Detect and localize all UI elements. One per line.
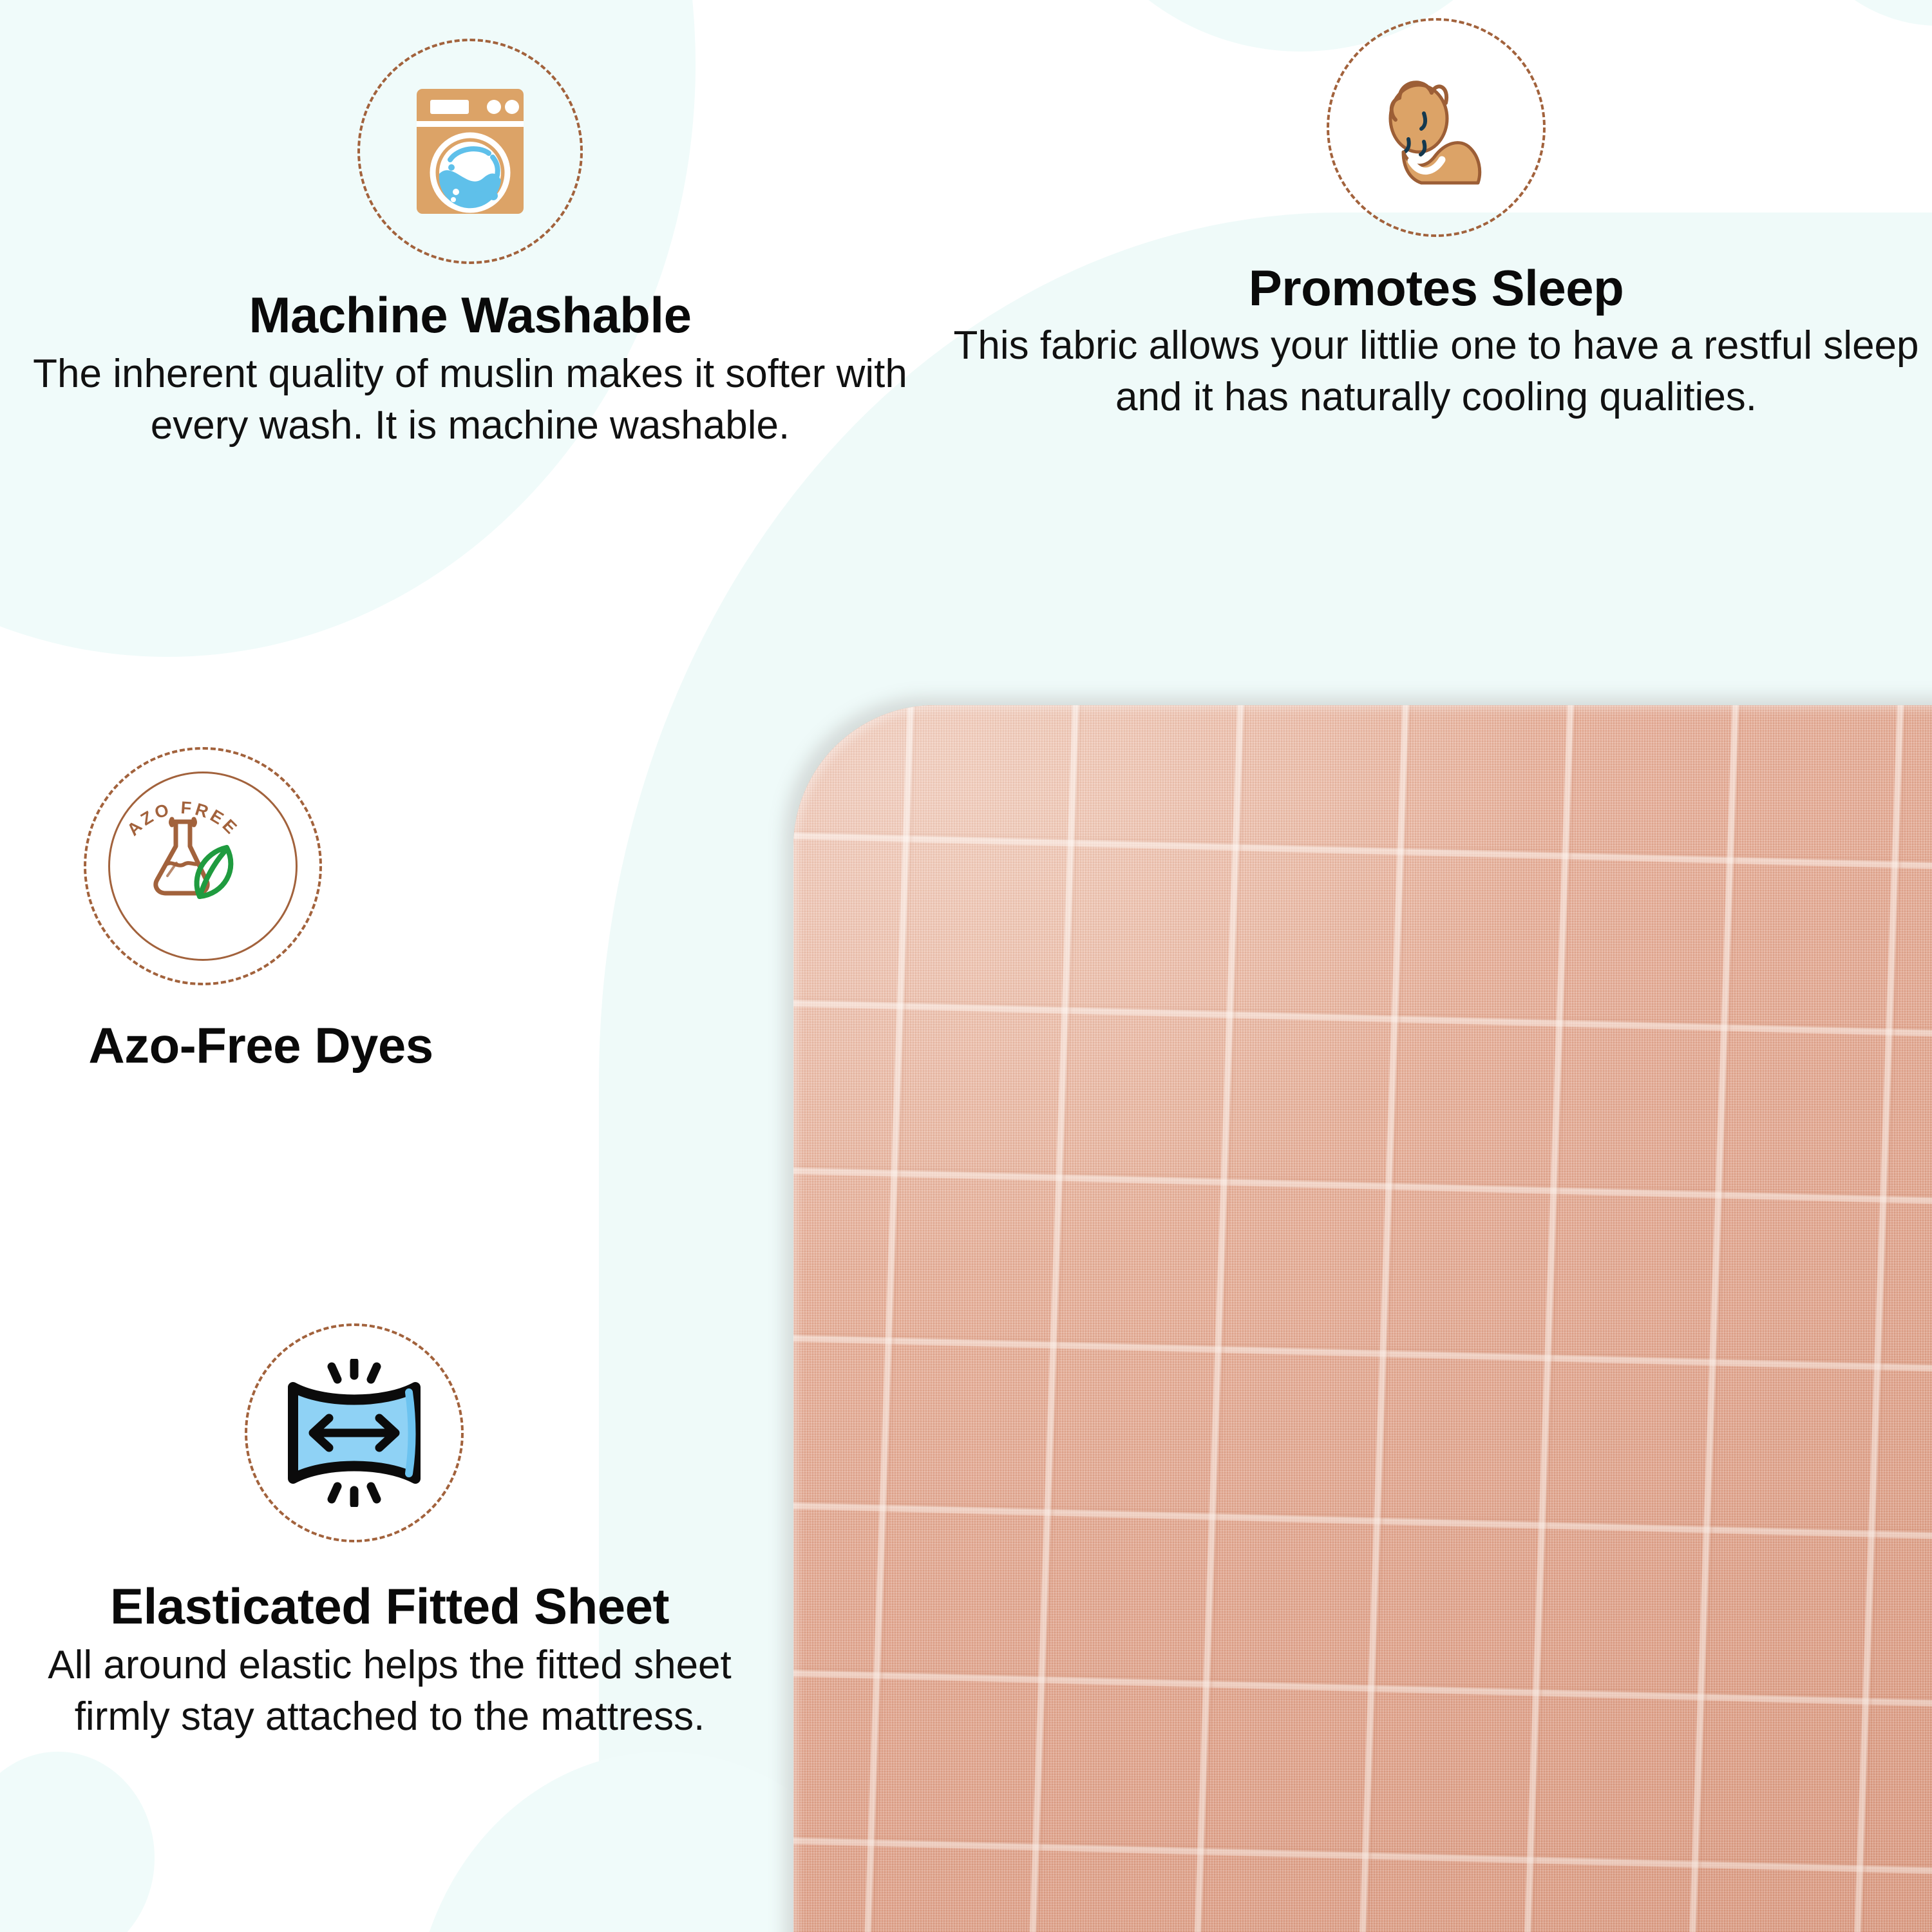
sleeping-baby-badge [1327, 18, 1546, 237]
feature-title: Elasticated Fitted Sheet [0, 1580, 779, 1633]
stretch-badge [245, 1323, 464, 1542]
feature-title: Promotes Sleep [940, 261, 1932, 315]
washing-machine-icon [409, 84, 531, 219]
flask-leaf-icon: AZO FREE [86, 750, 279, 943]
washing-machine-badge [357, 39, 583, 264]
feature-azo-free-dyes: AZO FREE [0, 747, 708, 1072]
feature-title: Azo-Free Dyes [0, 1019, 708, 1072]
sleeping-baby-icon [1362, 63, 1510, 192]
feature-description: All around elastic helps the fitted shee… [0, 1640, 779, 1743]
feature-machine-washable: Machine Washable The inherent quality of… [0, 39, 940, 452]
infographic-canvas: Machine Washable The inherent quality of… [0, 0, 1932, 1932]
feature-description: This fabric allows your littlie one to h… [940, 320, 1932, 424]
feature-title: Machine Washable [0, 289, 940, 342]
background-blob-bottom-left-small [0, 1752, 155, 1932]
azo-free-badge-text: AZO FREE [123, 798, 242, 840]
feature-promotes-sleep: Promotes Sleep This fabric allows your l… [940, 18, 1932, 424]
feature-elasticated-fitted-sheet: Elasticated Fitted Sheet All around elas… [0, 1323, 779, 1743]
muslin-fabric-image [793, 705, 1932, 1932]
feature-description: The inherent quality of muslin makes it … [0, 348, 940, 452]
stretch-arrows-icon [274, 1359, 435, 1507]
fabric-edge-highlight [793, 705, 1932, 1932]
azo-free-badge: AZO FREE [84, 747, 322, 985]
